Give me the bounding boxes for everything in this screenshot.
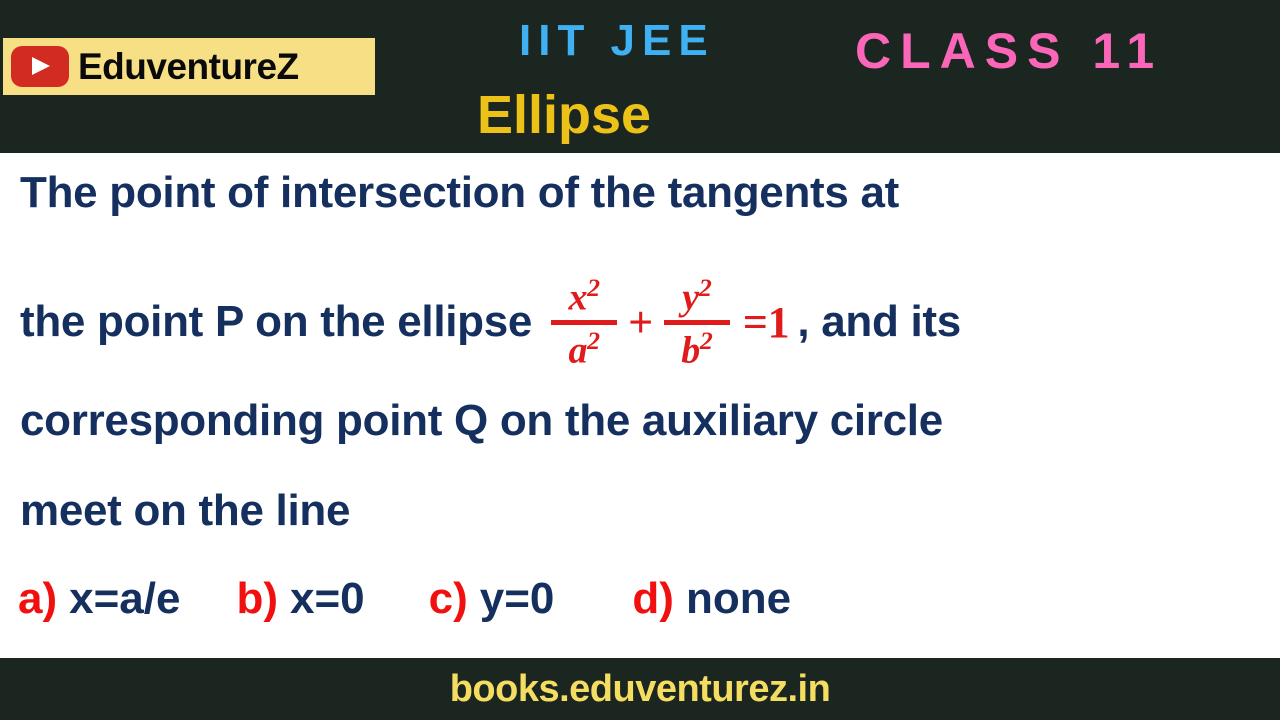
option-a-label: a) — [18, 574, 57, 624]
class-title: CLASS 11 — [855, 22, 1163, 80]
footer-website-url[interactable]: books.eduventurez.in — [450, 668, 831, 711]
fraction-y-over-b: y2 b2 — [664, 275, 730, 369]
option-c-text: y=0 — [480, 574, 555, 624]
brand-name: EduventureZ — [78, 46, 299, 88]
fraction-numerator-y: y2 — [676, 275, 717, 320]
fraction-x-over-a: x2 a2 — [551, 275, 617, 369]
option-d-label: d) — [632, 574, 674, 624]
fraction-denominator-a: a2 — [562, 325, 605, 370]
option-b[interactable]: b) x=0 — [236, 574, 364, 624]
equals-one: =1 — [743, 297, 789, 348]
question-line-2-prefix: the point P on the ellipse — [20, 297, 532, 347]
option-d-text: none — [686, 574, 791, 624]
slide-root: EduventureZ IIT JEE CLASS 11 Ellipse The… — [0, 0, 1280, 720]
question-line-2-suffix: , and its — [797, 297, 961, 347]
header-bar: EduventureZ IIT JEE CLASS 11 Ellipse — [0, 0, 1280, 153]
option-b-label: b) — [236, 574, 278, 624]
youtube-play-icon — [11, 46, 69, 87]
question-body: The point of intersection of the tangent… — [0, 153, 1280, 658]
option-c-label: c) — [429, 574, 468, 624]
footer-bar: books.eduventurez.in — [0, 658, 1280, 720]
plus-operator: + — [628, 297, 653, 348]
question-line-3: corresponding point Q on the auxiliary c… — [20, 396, 943, 446]
option-a[interactable]: a) x=a/e — [18, 574, 180, 624]
answer-options: a) x=a/e b) x=0 c) y=0 d) none — [18, 568, 1258, 630]
question-line-1: The point of intersection of the tangent… — [20, 168, 899, 218]
option-c[interactable]: c) y=0 — [429, 574, 555, 624]
topic-title: Ellipse — [477, 84, 651, 146]
fraction-numerator-x: x2 — [562, 275, 605, 320]
question-line-2: the point P on the ellipse x2 a2 + y2 b2… — [20, 275, 961, 369]
option-a-text: x=a/e — [69, 574, 180, 624]
question-line-4: meet on the line — [20, 486, 350, 536]
option-d[interactable]: d) none — [632, 574, 791, 624]
fraction-denominator-b: b2 — [675, 325, 718, 370]
brand-logo-badge[interactable]: EduventureZ — [3, 38, 375, 95]
option-b-text: x=0 — [290, 574, 365, 624]
exam-title: IIT JEE — [519, 16, 715, 66]
ellipse-equation: x2 a2 + y2 b2 =1 — [548, 275, 789, 369]
